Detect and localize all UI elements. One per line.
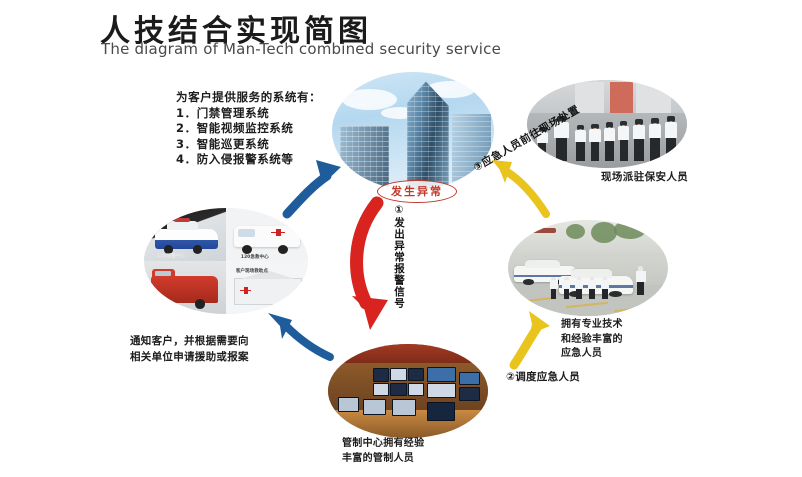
photo-emergency-services: 110报警中心 120急救中心 客户现场救助点 [144,208,308,314]
arrow-yellow-to-patrol-cars [514,311,550,365]
label-ambulance-center: 120急救中心 [241,254,269,260]
caption-notify-client: 通知客户，并根据需要向 相关单位申请援助或报案 [130,334,249,366]
systems-list-text: 为客户提供服务的系统有： 1．门禁管理系统 2．智能视频监控系统 3．智能巡更系… [176,90,321,168]
photo-buildings [332,72,494,190]
arrow-blue-to-buildings [287,160,341,214]
photo-control-room [328,344,488,438]
caption-response-team: 拥有专业技术 和经验丰富的 应急人员 [561,318,623,362]
label-aid-point: 客户现场救助点 [236,268,268,274]
step-1-label: ①发出异常报警信号 [392,204,407,309]
diagram-canvas: 人技结合实现简图 The diagram of Man-Tech combine… [0,0,802,477]
caption-guards: 现场派驻保安人员 [601,170,688,184]
arrow-red-to-control-room [352,203,388,330]
arrow-blue-to-emergency-services [268,313,330,357]
caption-control-room: 管制中心拥有经验 丰富的管制人员 [342,437,424,466]
page-title-en: The diagram of Man-Tech combined securit… [101,40,501,58]
step-2-label: ②调度应急人员 [506,370,580,384]
arrow-yellow-to-guards [492,160,546,214]
anomaly-badge: 发生异常 [377,180,457,203]
photo-patrol-cars [508,220,668,316]
label-police-center: 110报警中心 [157,253,185,259]
